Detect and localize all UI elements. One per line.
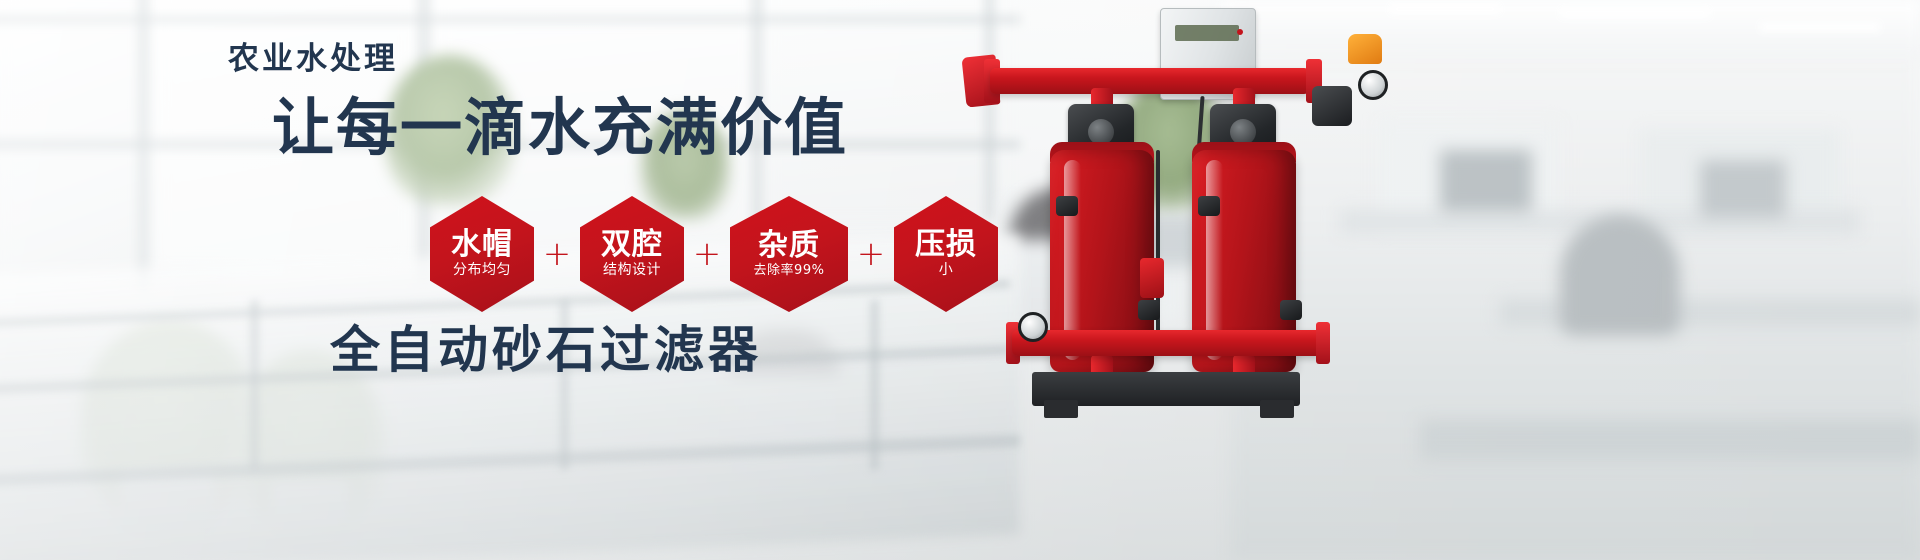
banner-copy-block: 农业水处理 让每一滴水充满价值 全自动砂石过滤器 水帽 分布均匀 + 双腔 结构…	[0, 0, 1020, 560]
banner-eyebrow: 农业水处理	[228, 44, 398, 75]
feature-badge-4-subtitle: 小	[939, 263, 954, 278]
drain-valve	[1280, 300, 1302, 320]
feature-badge-3-title: 杂质	[758, 230, 820, 261]
feature-badge-row: 水帽 分布均匀 + 双腔 结构设计 + 杂质 去除率99% + 压损 小	[430, 196, 998, 312]
status-led-icon	[1237, 29, 1243, 35]
product-image-sand-filter: SANYUAN	[960, 0, 1480, 560]
feature-badge-2-subtitle: 结构设计	[603, 263, 661, 278]
feature-badge-1: 水帽 分布均匀	[430, 196, 534, 312]
banner-subheadline: 全自动砂石过滤器	[330, 325, 762, 375]
side-port	[1140, 258, 1164, 298]
feature-badge-2: 双腔 结构设计	[580, 196, 684, 312]
drain-valve	[1056, 196, 1078, 216]
drain-valve	[1198, 196, 1220, 216]
feature-badge-1-subtitle: 分布均匀	[453, 263, 511, 278]
pressure-gauge	[1018, 312, 1048, 342]
inlet-manifold-pipe	[990, 68, 1310, 94]
feature-badge-3: 杂质 去除率99%	[730, 196, 848, 312]
badge-separator-plus-2: +	[684, 237, 730, 271]
badge-separator-plus-1: +	[534, 237, 580, 271]
feature-badge-2-title: 双腔	[601, 229, 663, 260]
shutoff-valve	[1312, 86, 1352, 126]
banner-headline: 让每一滴水充满价值	[272, 95, 848, 160]
drain-valve	[1138, 300, 1160, 320]
pipe-flange	[1316, 322, 1330, 364]
feature-badge-3-subtitle: 去除率99%	[754, 264, 825, 278]
air-relief-valve	[1348, 34, 1382, 64]
badge-separator-plus-3: +	[848, 237, 894, 271]
controller-display	[1175, 25, 1239, 41]
base-foot	[1044, 400, 1078, 418]
pressure-gauge	[1358, 70, 1388, 100]
feature-badge-1-title: 水帽	[451, 229, 513, 260]
outlet-manifold-pipe	[1012, 330, 1322, 356]
base-foot	[1260, 400, 1294, 418]
promo-banner: 农业水处理 让每一滴水充满价值 全自动砂石过滤器 水帽 分布均匀 + 双腔 结构…	[0, 0, 1920, 560]
